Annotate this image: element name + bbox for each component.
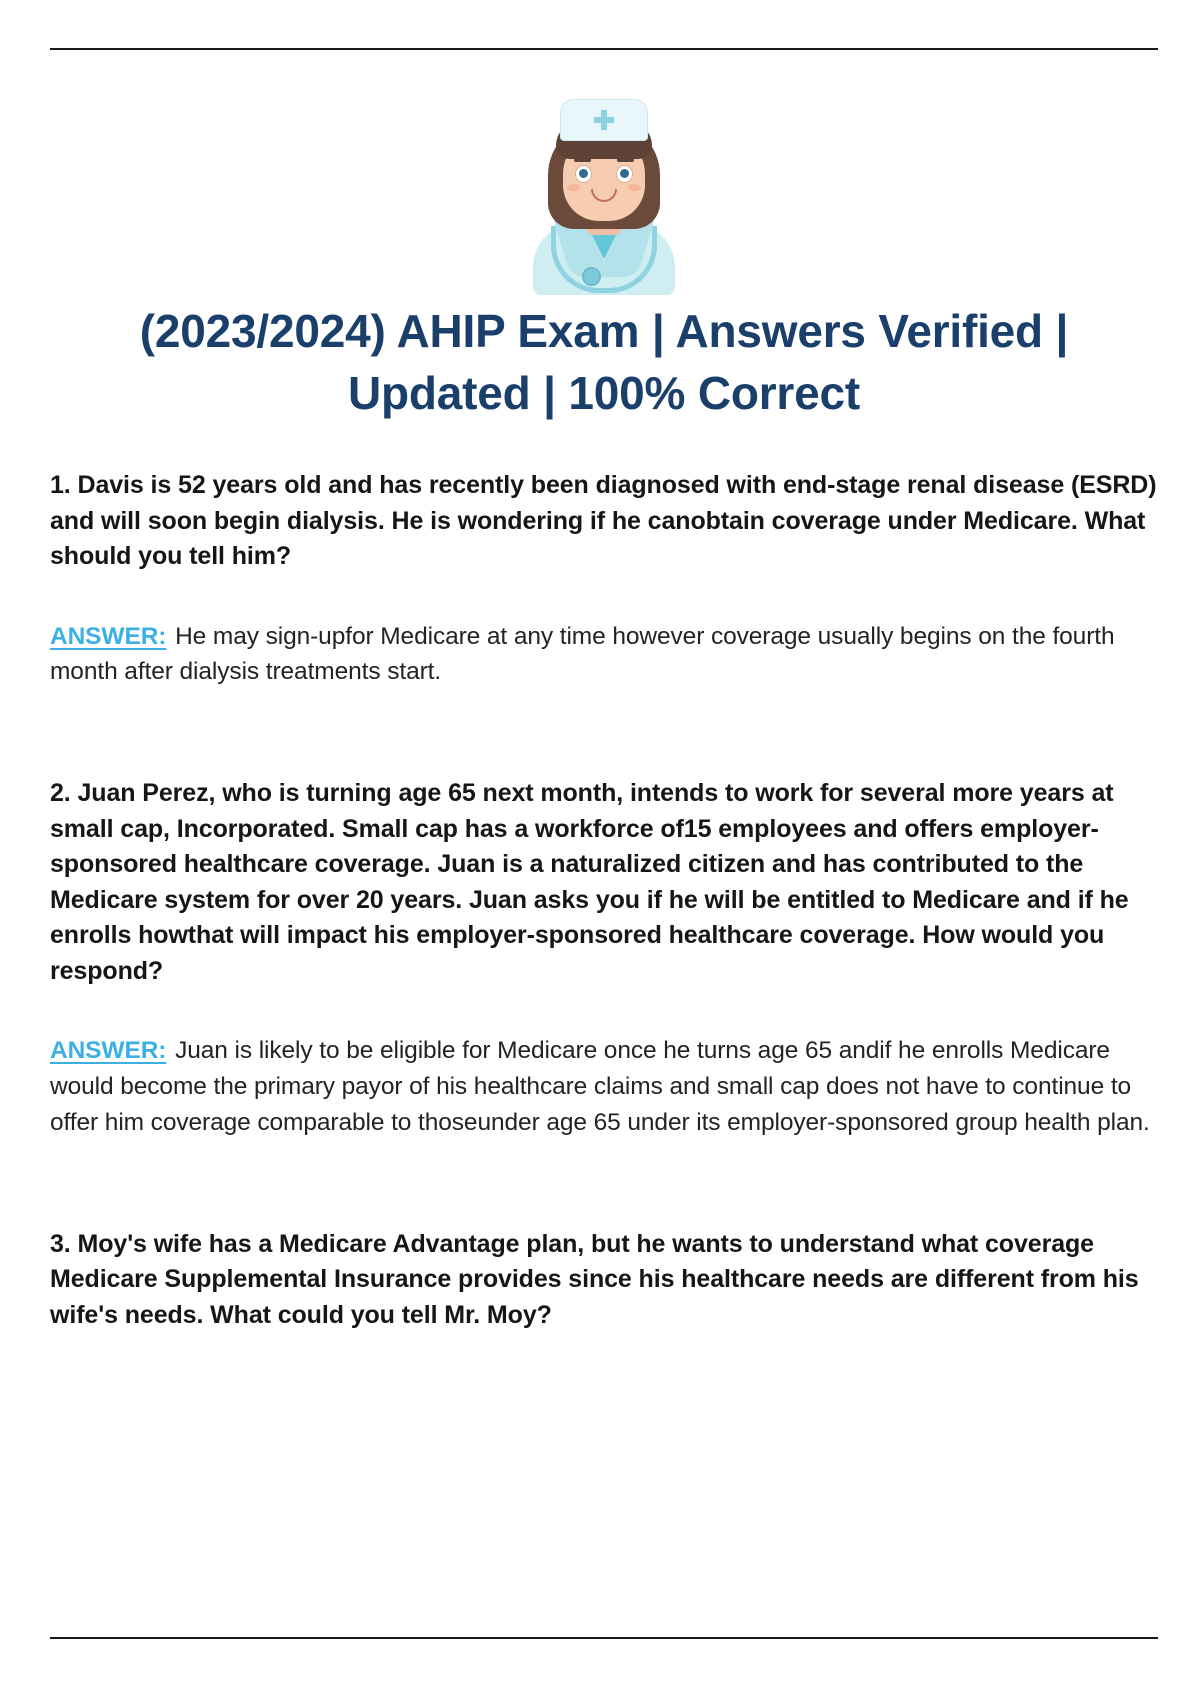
qa-block-1: 1. Davis is 52 years old and has recentl… xyxy=(50,468,1158,690)
document-content: (2023/2024) AHIP Exam | Answers Verified… xyxy=(50,95,1158,1333)
document-page: (2023/2024) AHIP Exam | Answers Verified… xyxy=(0,0,1200,1700)
nurse-eyebrow-right-shape xyxy=(617,158,634,162)
nurse-eye-right-shape xyxy=(616,165,633,183)
page-title: (2023/2024) AHIP Exam | Answers Verified… xyxy=(50,300,1158,424)
nurse-blush-left-shape xyxy=(567,184,580,191)
answer-paragraph-1: ANSWER: He may sign-upfor Medicare at an… xyxy=(50,619,1158,691)
page-bottom-divider xyxy=(50,1637,1158,1639)
qa-block-3: 3. Moy's wife has a Medicare Advantage p… xyxy=(50,1227,1158,1334)
stethoscope-bell-shape xyxy=(582,267,601,286)
answer-text-1: He may sign-upfor Medicare at any time h… xyxy=(50,623,1115,686)
nurse-eyebrow-left-shape xyxy=(574,158,591,162)
answer-label-1: ANSWER: xyxy=(50,623,166,650)
nurse-eye-left-shape xyxy=(575,165,592,183)
nurse-blush-right-shape xyxy=(628,184,641,191)
question-text-3: 3. Moy's wife has a Medicare Advantage p… xyxy=(50,1227,1158,1334)
section-spacer-1 xyxy=(50,690,1158,732)
answer-text-2: Juan is likely to be eligible for Medica… xyxy=(50,1037,1150,1136)
nurse-cap-icon xyxy=(560,99,648,141)
qa-block-2: 2. Juan Perez, who is turning age 65 nex… xyxy=(50,776,1158,1140)
question-text-1: 1. Davis is 52 years old and has recentl… xyxy=(50,468,1158,575)
nurse-pupil-left-shape xyxy=(579,169,588,178)
answer-label-2: ANSWER: xyxy=(50,1037,166,1064)
page-top-divider xyxy=(50,48,1158,50)
nurse-avatar-icon xyxy=(529,95,679,295)
section-spacer-2 xyxy=(50,1141,1158,1183)
hero-illustration-container xyxy=(50,95,1158,300)
medical-cross-horizontal-shape xyxy=(594,117,614,123)
nurse-pupil-right-shape xyxy=(620,169,629,178)
answer-paragraph-2: ANSWER: Juan is likely to be eligible fo… xyxy=(50,1033,1158,1140)
question-text-2: 2. Juan Perez, who is turning age 65 nex… xyxy=(50,776,1158,989)
